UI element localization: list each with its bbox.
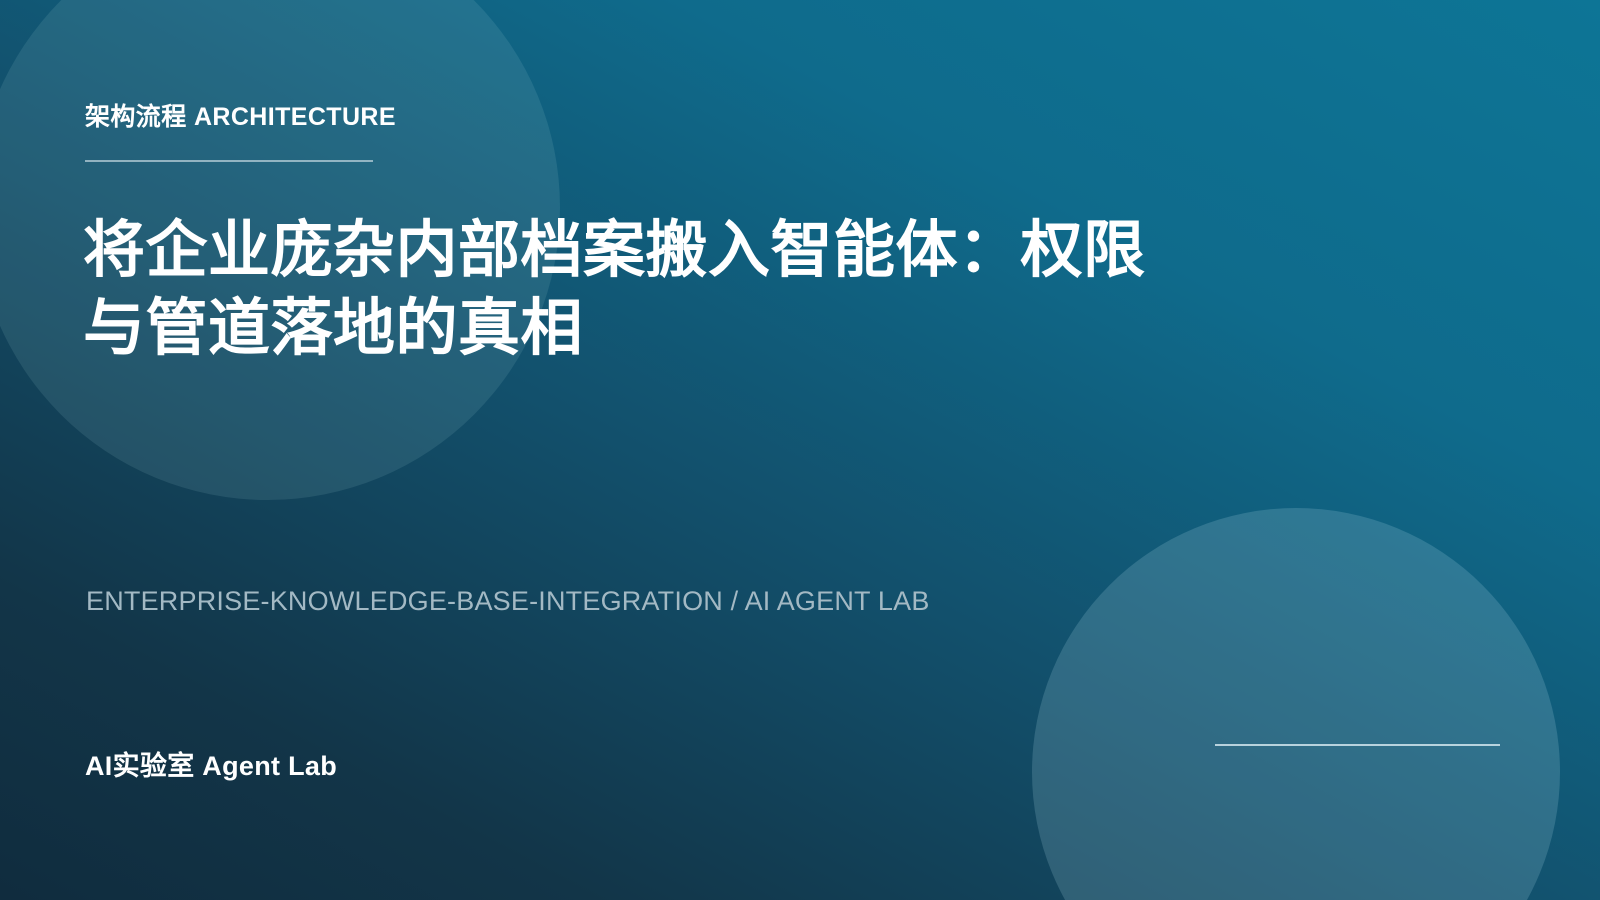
- page-title-line-2: 与管道落地的真相: [83, 290, 1203, 368]
- eyebrow-label: 架构流程 ARCHITECTURE: [85, 104, 396, 132]
- eyebrow-block: 架构流程 ARCHITECTURE: [85, 104, 396, 162]
- page-title: 将企业庞杂内部档案搬入智能体：权限 与管道落地的真相: [83, 212, 1203, 368]
- page-title-line-1: 将企业庞杂内部档案搬入智能体：权限: [83, 212, 1203, 290]
- footer-brand-label: AI实验室 Agent Lab: [85, 744, 337, 783]
- eyebrow-divider: [85, 160, 373, 162]
- accent-divider: [1215, 744, 1500, 746]
- subtitle-label: ENTERPRISE-KNOWLEDGE-BASE-INTEGRATION / …: [86, 586, 930, 617]
- title-slide: 架构流程 ARCHITECTURE 将企业庞杂内部档案搬入智能体：权限 与管道落…: [0, 0, 1600, 900]
- decorative-circle-small: [1032, 508, 1560, 900]
